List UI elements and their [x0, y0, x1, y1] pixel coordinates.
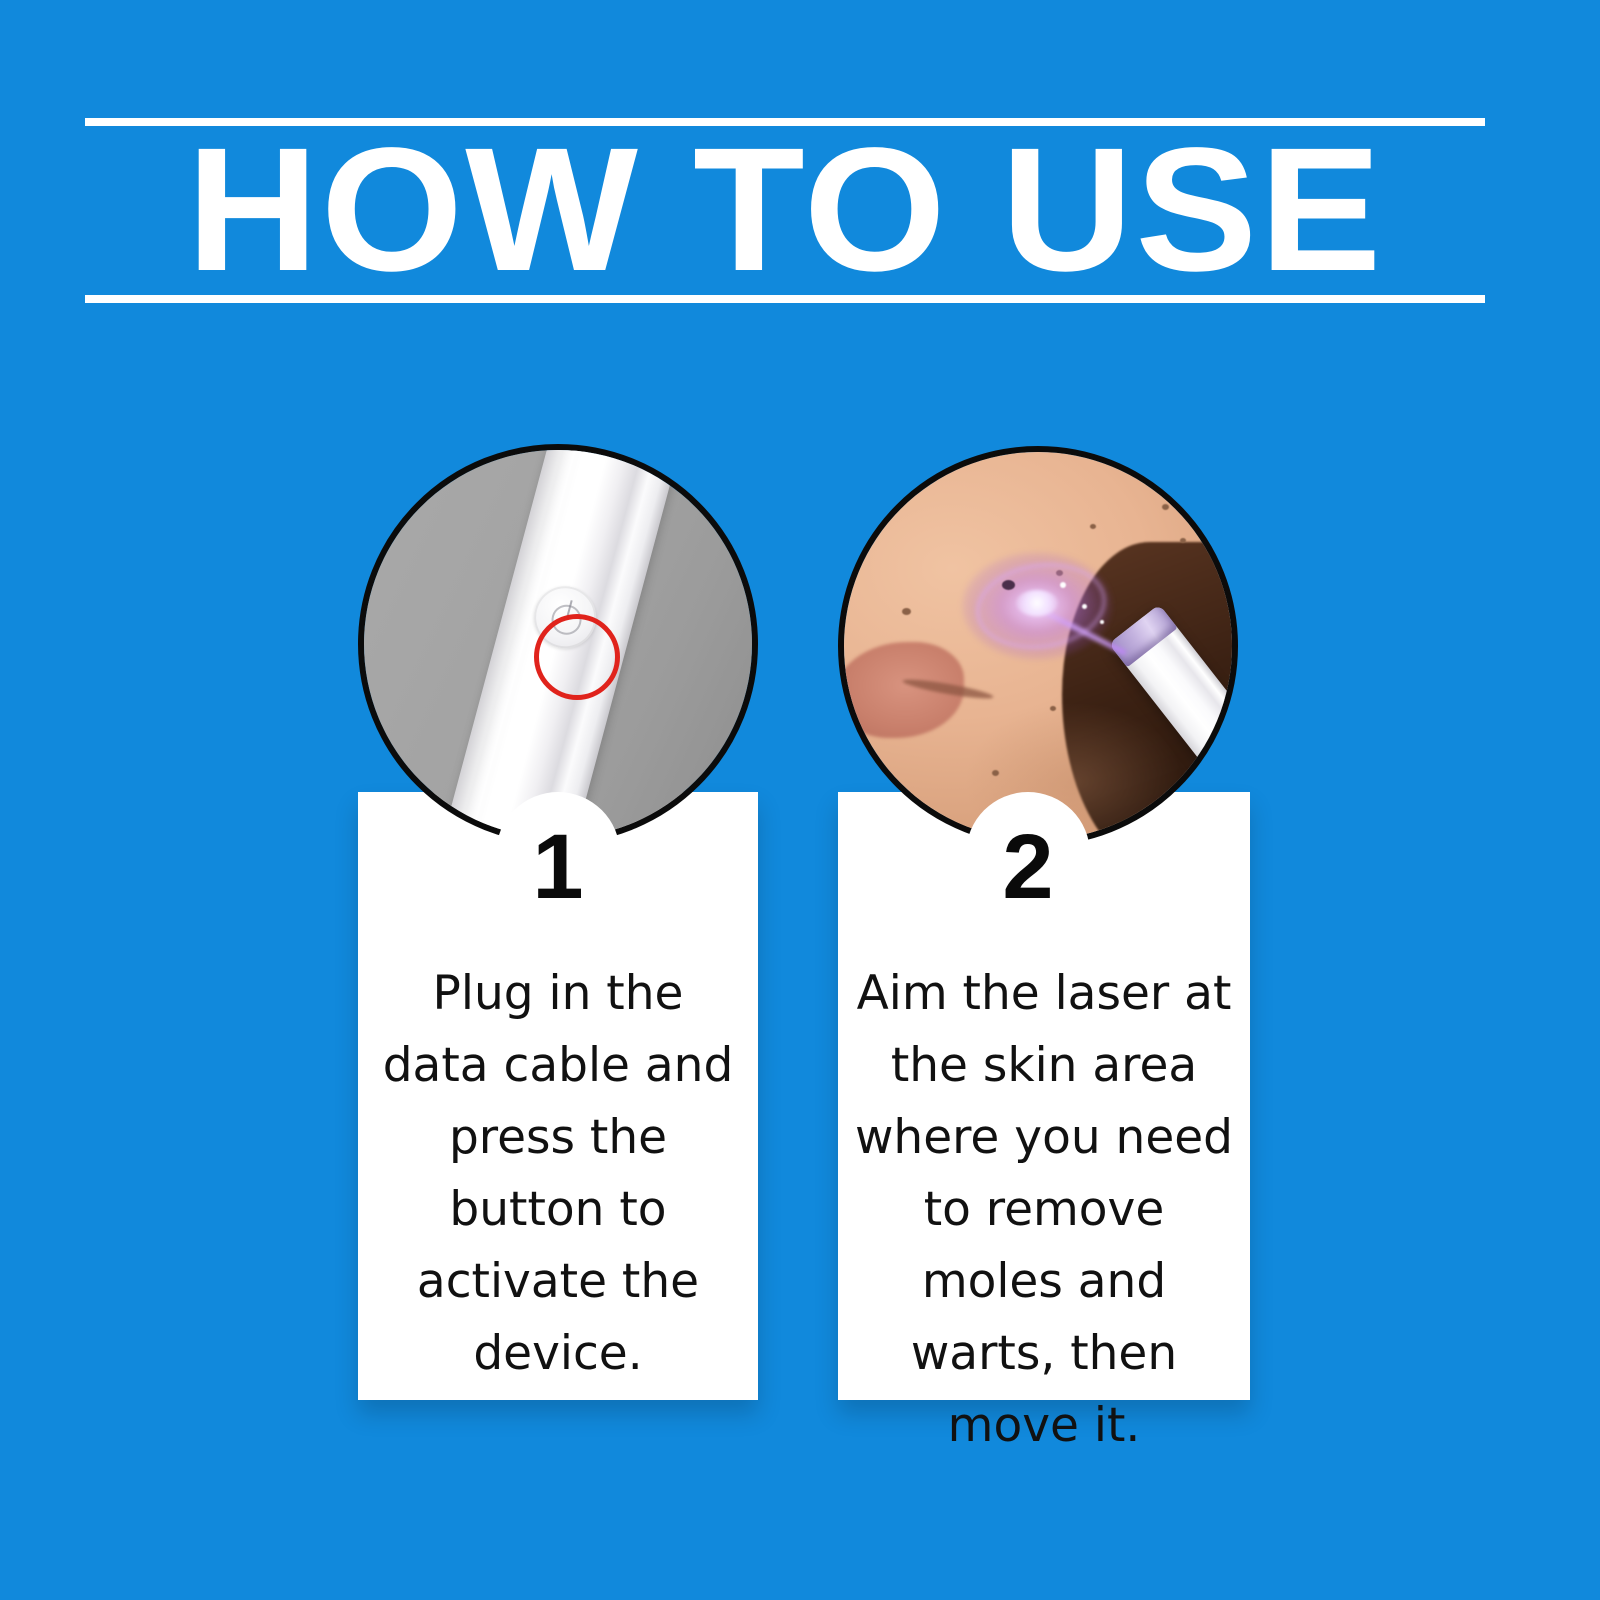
- target-mole: [1002, 580, 1015, 590]
- how-to-use-infographic: HOW TO USE 1 Plug in the data cable and …: [0, 0, 1600, 1600]
- laser-spark: [1100, 620, 1104, 624]
- mole-spot: [902, 608, 911, 615]
- power-button: [1223, 744, 1238, 786]
- step-number-badge-2: 2: [966, 792, 1090, 916]
- mole-spot: [1090, 524, 1096, 529]
- step-2-photo: [838, 446, 1238, 846]
- laser-spark: [1060, 582, 1066, 588]
- mole-spot: [1162, 504, 1169, 510]
- mole-spot: [992, 770, 999, 776]
- laser-impact-point: [1016, 590, 1058, 616]
- steps-container: 1 Plug in the data cable and press the b…: [0, 0, 1600, 1600]
- mole-spot: [1180, 538, 1186, 543]
- step-2-caption: Aim the laser at the skin area where you…: [852, 958, 1236, 1462]
- mole-spot: [1050, 706, 1056, 711]
- laser-spark: [1082, 604, 1087, 609]
- step-card-2: 2 Aim the laser at the skin area where y…: [0, 0, 1600, 1600]
